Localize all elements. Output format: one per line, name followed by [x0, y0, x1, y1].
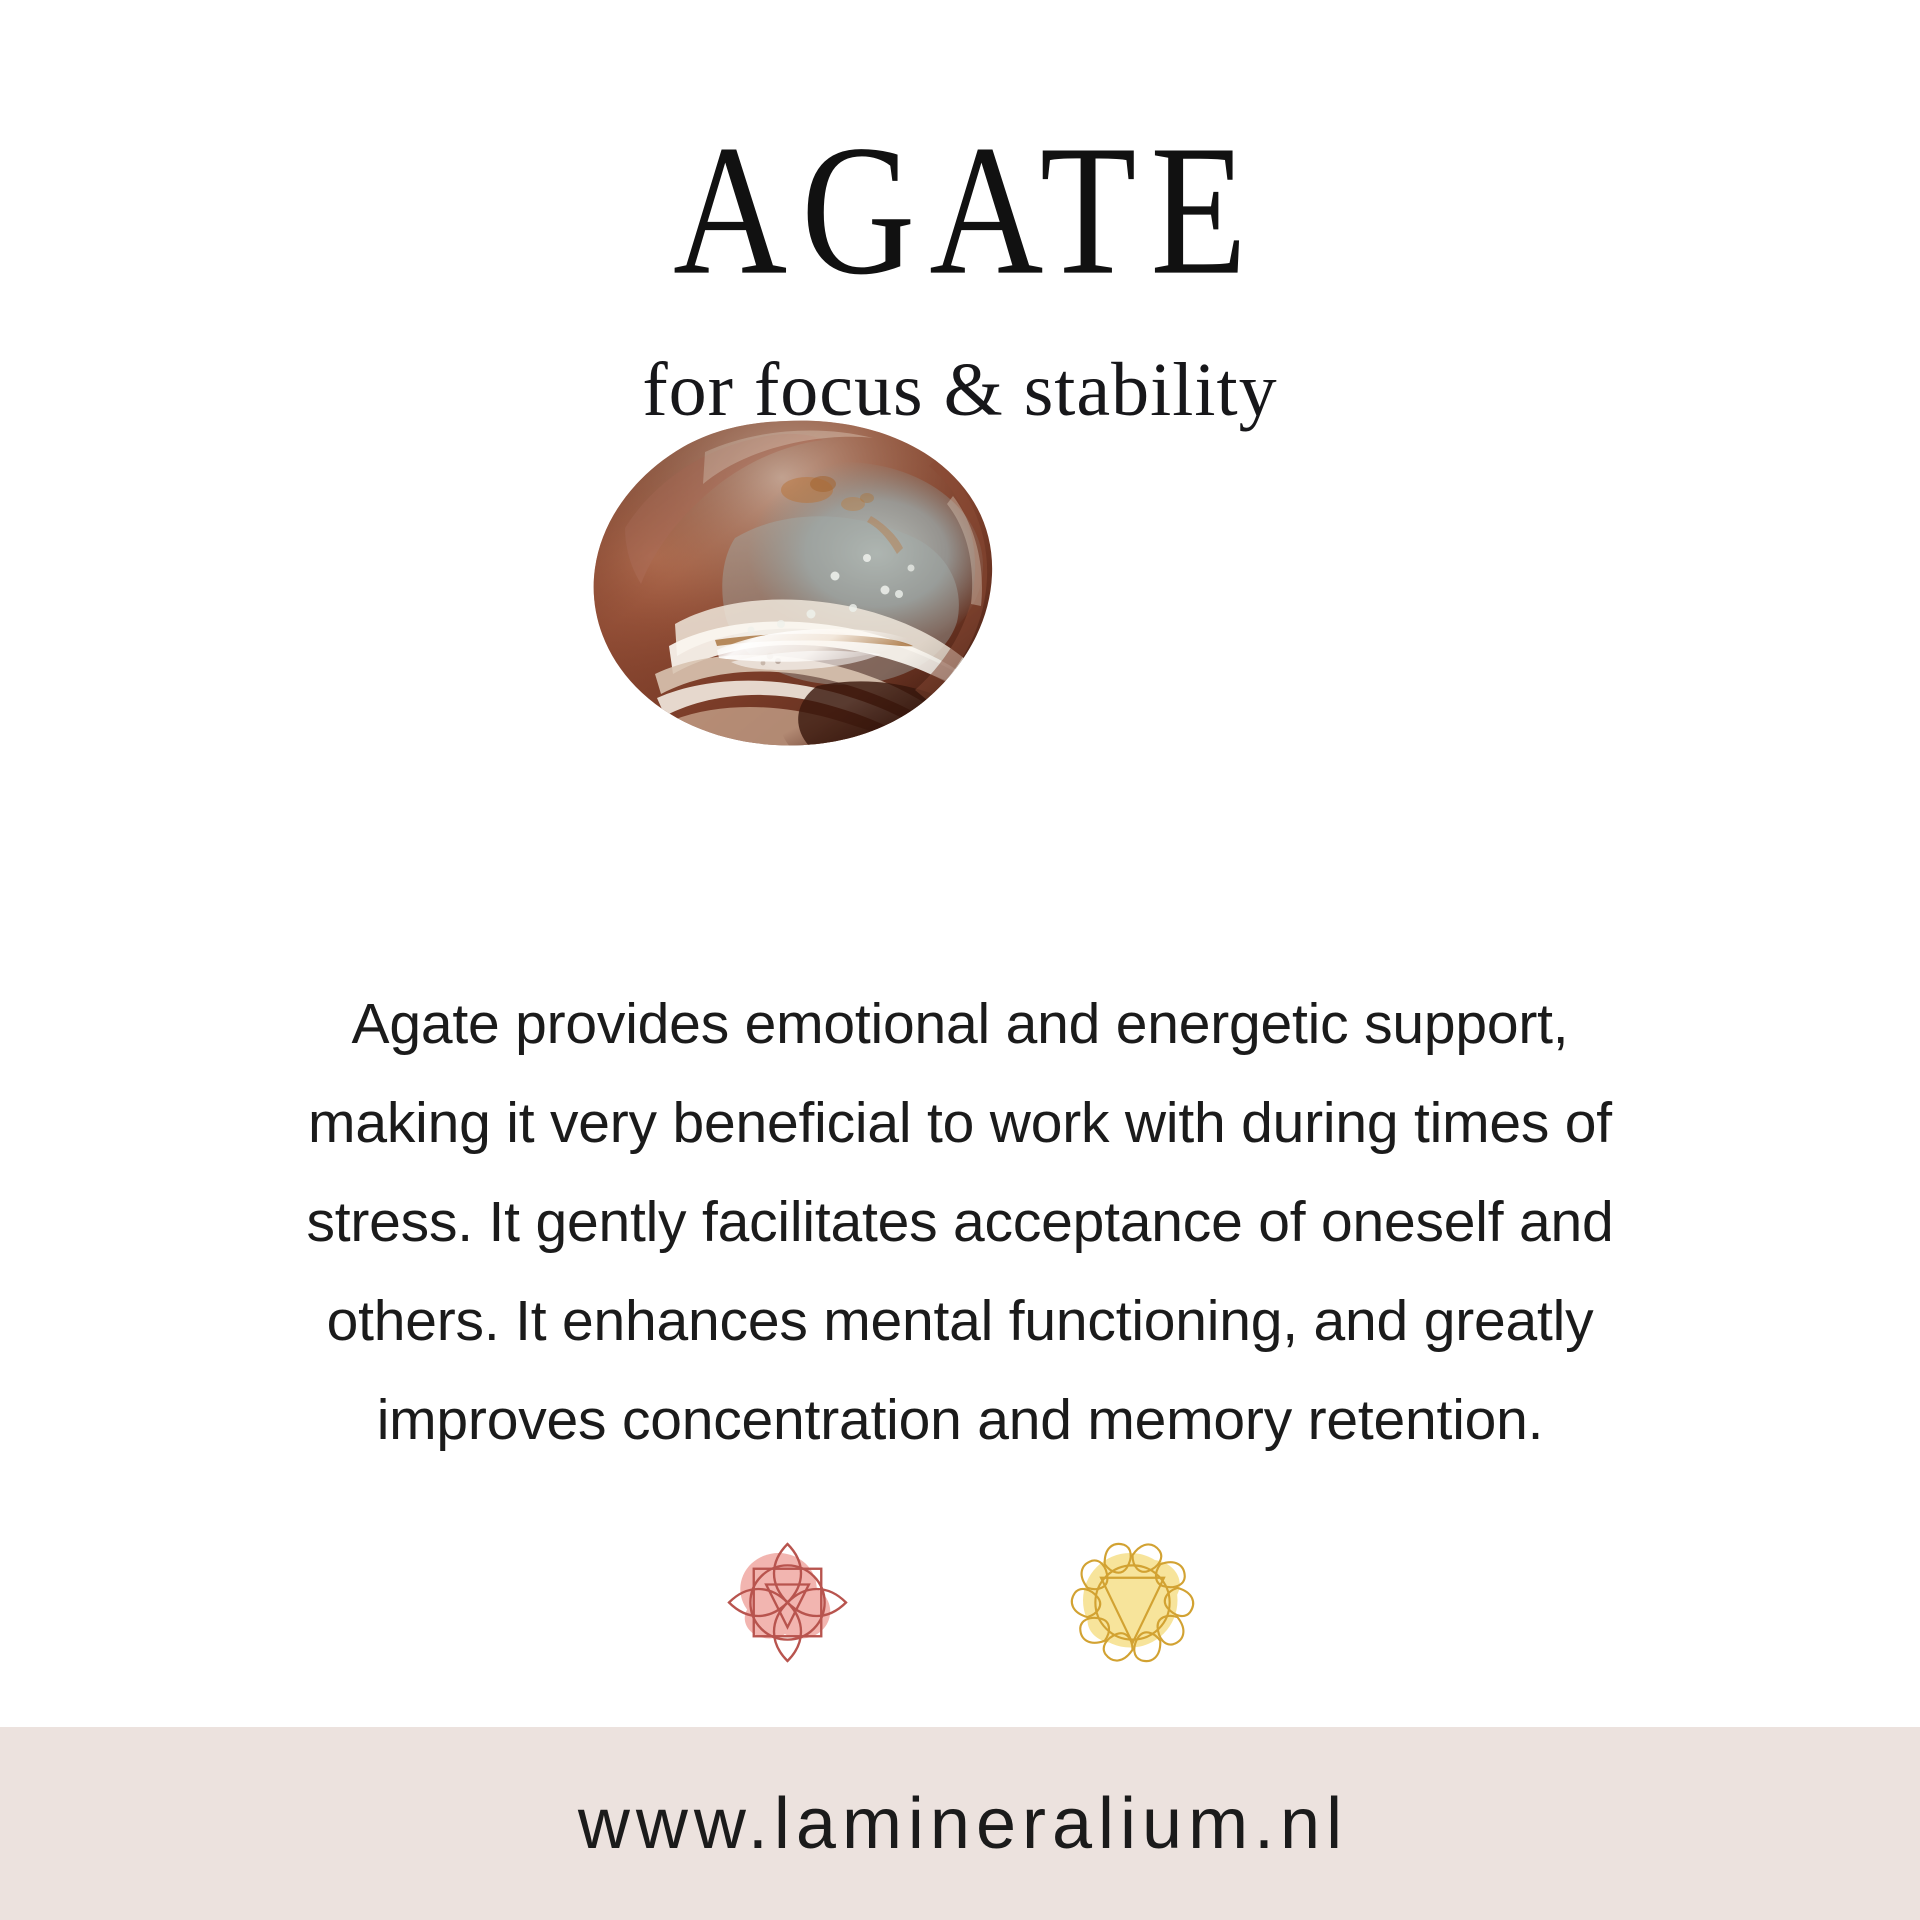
chakra-icon-row [0, 1535, 1920, 1670]
agate-stone-illustration [585, 418, 995, 748]
description-line: Agate provides emotional and energetic s… [160, 975, 1760, 1074]
website-url[interactable]: www.lamineralium.nl [572, 1783, 1348, 1865]
footer-band: www.lamineralium.nl [0, 1727, 1920, 1920]
solar-plexus-chakra-icon [1065, 1535, 1200, 1670]
page-subtitle: for focus & stability [0, 352, 1920, 428]
agate-info-card: AGATE for focus & stability [0, 0, 1920, 1920]
page-title: AGATE [0, 118, 1920, 304]
description-line: others. It enhances mental functioning, … [160, 1272, 1760, 1371]
description-line: stress. It gently facilitates acceptance… [160, 1173, 1760, 1272]
agate-stone-image [585, 418, 995, 748]
root-chakra-icon [720, 1535, 855, 1670]
description-line: improves concentration and memory retent… [160, 1371, 1760, 1470]
description-text: Agate provides emotional and energetic s… [160, 975, 1760, 1470]
description-line: making it very beneficial to work with d… [160, 1074, 1760, 1173]
